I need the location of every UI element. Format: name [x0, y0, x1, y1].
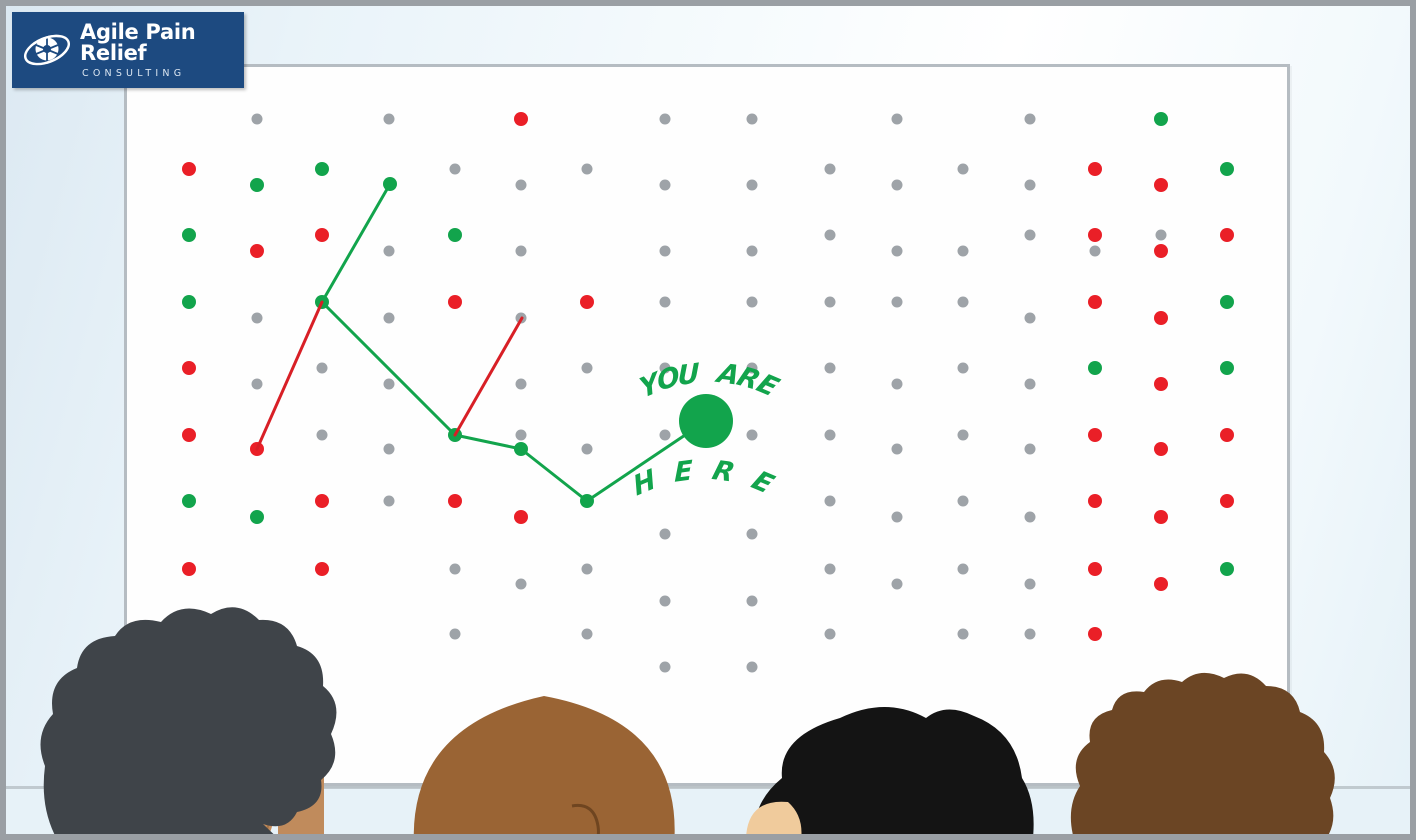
person-1-hair: [41, 607, 337, 840]
brand-logo[interactable]: Agile Pain Relief CONSULTING: [12, 12, 244, 88]
current-position-marker[interactable]: [679, 394, 733, 448]
person-4: [1046, 566, 1416, 840]
logo-title: Agile Pain Relief: [80, 22, 244, 64]
person-2-head: [414, 696, 675, 840]
person-4-hair: [1071, 673, 1366, 840]
globe-orbit-icon: [22, 28, 72, 72]
person-1: [6, 546, 406, 840]
logo-subtitle: CONSULTING: [80, 69, 244, 79]
person-3: [736, 656, 1076, 840]
red-branch-lower-left: [257, 302, 322, 449]
red-branch-upper-right: [455, 318, 522, 435]
green-journey-path: [322, 184, 706, 501]
logo-text-block: Agile Pain Relief CONSULTING: [80, 22, 244, 79]
person-2: [396, 606, 696, 840]
scene-root: YOU ARE HERE Agile: [0, 0, 1416, 840]
